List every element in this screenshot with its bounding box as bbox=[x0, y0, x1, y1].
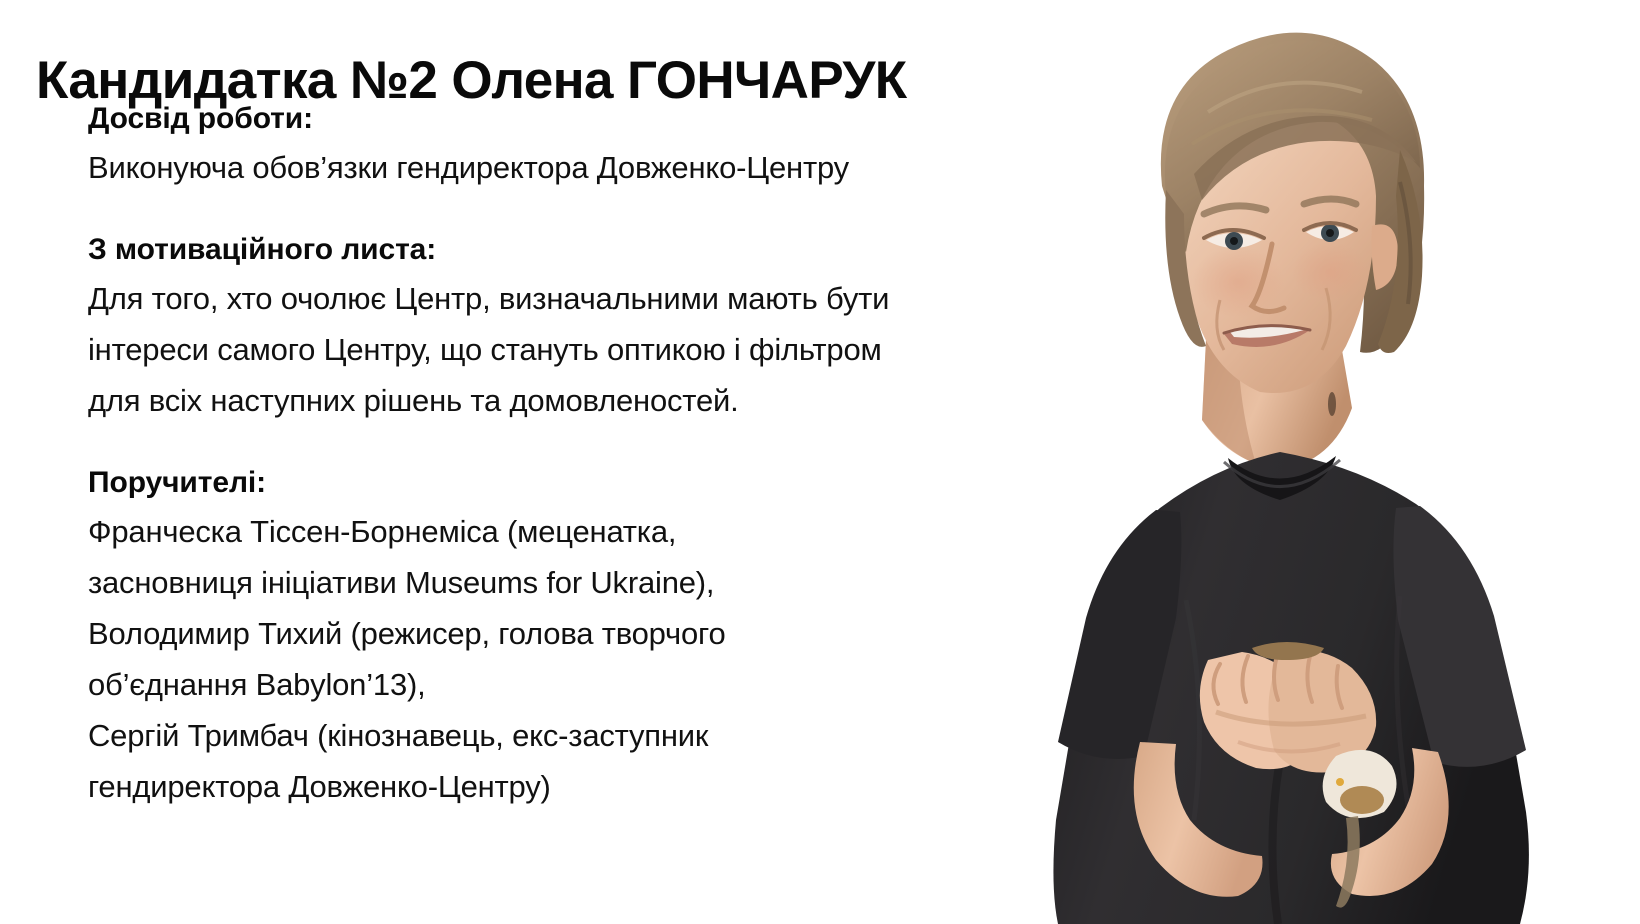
section-experience: Досвід роботи: Виконуюча обов’язки генди… bbox=[88, 96, 1108, 193]
teeth-shape bbox=[1230, 326, 1304, 337]
watch-strap-tail bbox=[1336, 816, 1360, 908]
cheek-highlight bbox=[1292, 242, 1368, 302]
eye-right-pupil bbox=[1326, 229, 1334, 237]
hand-crease bbox=[1238, 742, 1340, 752]
section-guarantors: Поручителі: Франческа Тіссен-Борнеміса (… bbox=[88, 460, 1108, 812]
motivation-line: для всіх наступних рішень та домовленост… bbox=[88, 375, 1108, 426]
neck-shape bbox=[1202, 292, 1352, 470]
eye-right-iris bbox=[1321, 224, 1339, 242]
hair-back bbox=[1161, 33, 1424, 353]
watch-strap bbox=[1323, 750, 1397, 818]
experience-body: Виконуюча обов’язки гендиректора Довженк… bbox=[88, 142, 1108, 193]
tshirt-body bbox=[1053, 452, 1528, 924]
tshirt-collar bbox=[1228, 456, 1336, 500]
motivation-line: інтереси самого Центру, що стануть оптик… bbox=[88, 324, 1108, 375]
guarantors-body: Франческа Тіссен-Борнеміса (меценатка, з… bbox=[88, 506, 1108, 812]
motivation-body: Для того, хто очолює Центр, визначальним… bbox=[88, 273, 1108, 426]
hair-strand bbox=[1400, 182, 1411, 304]
finger bbox=[1242, 656, 1248, 702]
guarantors-line: Франческа Тіссен-Борнеміса (меценатка, bbox=[88, 506, 1108, 557]
hair-sweep-strand bbox=[1194, 116, 1416, 200]
eyebrow-right bbox=[1304, 199, 1356, 204]
tshirt-fold bbox=[1397, 596, 1410, 818]
watch-face bbox=[1340, 786, 1384, 814]
knuckle-shadow bbox=[1212, 706, 1368, 718]
eye-right bbox=[1306, 226, 1354, 240]
hand-crease bbox=[1216, 712, 1366, 724]
eye-right-lid bbox=[1304, 223, 1356, 230]
slide-root: Кандидатка №2 Олена ГОНЧАРУК Досвід робо… bbox=[0, 0, 1640, 924]
hair-side-left bbox=[1165, 190, 1206, 347]
body-content: Досвід роботи: Виконуюча обов’язки генди… bbox=[88, 96, 1108, 812]
guarantors-line: об’єднання Babylon’13), bbox=[88, 659, 1108, 710]
arm-right bbox=[1331, 748, 1449, 896]
watch-detail-dot bbox=[1336, 778, 1344, 786]
face-shape bbox=[1183, 108, 1376, 393]
hair-strand bbox=[1208, 83, 1362, 112]
hand-left bbox=[1200, 652, 1312, 769]
mouth-line bbox=[1224, 326, 1310, 333]
cheek-highlight bbox=[1192, 246, 1284, 318]
finger bbox=[1213, 664, 1220, 704]
section-motivation: З мотиваційного листа: Для того, хто очо… bbox=[88, 227, 1108, 426]
neck-mark bbox=[1328, 392, 1336, 416]
text-column: Кандидатка №2 Олена ГОНЧАРУК Досвід робо… bbox=[0, 0, 1120, 924]
guarantors-line: гендиректора Довженко-Центру) bbox=[88, 761, 1108, 812]
nasolabial-line bbox=[1322, 288, 1330, 350]
neck-shadow bbox=[1202, 300, 1256, 464]
tshirt-collar-seam bbox=[1224, 460, 1340, 487]
hand-right bbox=[1268, 650, 1376, 773]
motivation-line: Для того, хто очолює Центр, визначальним… bbox=[88, 273, 1108, 324]
motivation-label: З мотиваційного листа: bbox=[88, 227, 1108, 273]
experience-line: Виконуюча обов’язки гендиректора Довженк… bbox=[88, 142, 1108, 193]
tshirt-fold bbox=[1272, 760, 1280, 924]
guarantors-line: засновниця ініціативи Museums for Ukrain… bbox=[88, 557, 1108, 608]
nose-shape bbox=[1252, 244, 1284, 312]
guarantors-line: Володимир Тихий (режисер, голова творчог… bbox=[88, 608, 1108, 659]
nasolabial-line bbox=[1217, 300, 1224, 350]
eye-left-iris bbox=[1225, 232, 1243, 250]
experience-label: Досвід роботи: bbox=[88, 96, 1108, 142]
tshirt-fold bbox=[1186, 600, 1199, 820]
guarantors-label: Поручителі: bbox=[88, 460, 1108, 506]
hair-fringe bbox=[1165, 40, 1420, 252]
finger bbox=[1337, 666, 1342, 708]
eye-left-pupil bbox=[1230, 237, 1238, 245]
mouth-shape bbox=[1224, 325, 1310, 347]
finger bbox=[1274, 652, 1278, 700]
arm-left bbox=[1134, 742, 1263, 897]
hair-strand bbox=[1192, 110, 1372, 144]
finger bbox=[1307, 656, 1312, 702]
tshirt-sleeve-right bbox=[1393, 506, 1526, 767]
eye-left bbox=[1206, 233, 1262, 248]
eye-left-lid bbox=[1204, 230, 1264, 238]
ear-shape bbox=[1372, 224, 1399, 290]
hair-side-right bbox=[1378, 150, 1423, 353]
eyebrow-left bbox=[1204, 206, 1266, 214]
held-object bbox=[1252, 642, 1324, 660]
guarantors-line: Сергій Тримбач (кінознавець, екс-заступн… bbox=[88, 710, 1108, 761]
